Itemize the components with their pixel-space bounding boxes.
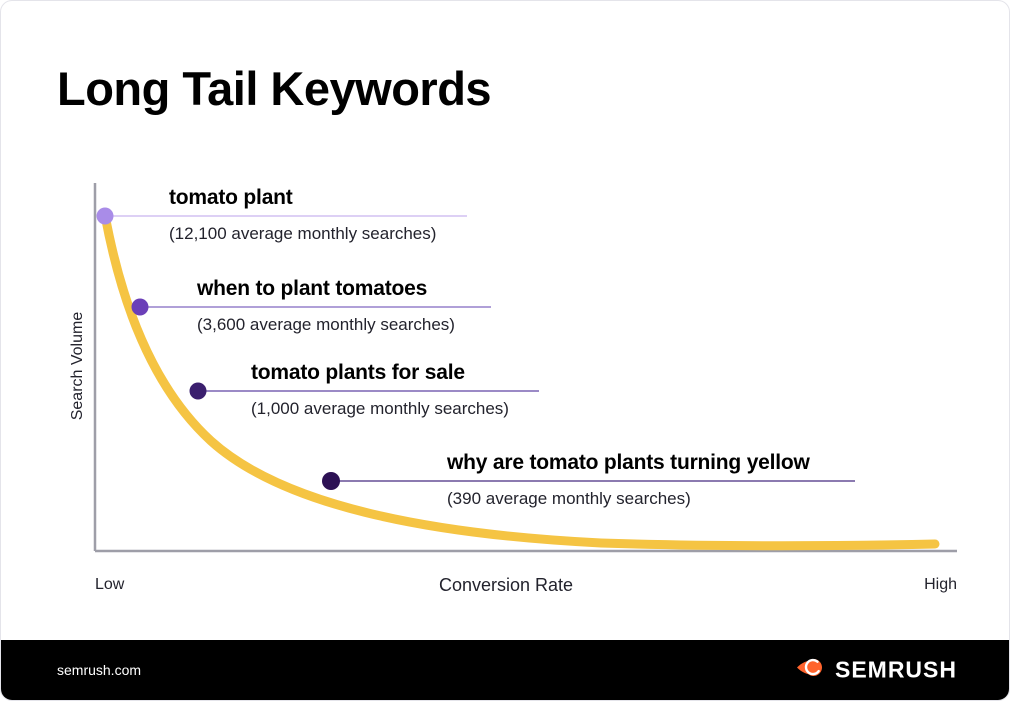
annotation-volume: (3,600 average monthly searches) [197, 315, 455, 335]
annotation-keyword: tomato plant [169, 186, 293, 210]
annotation-keyword: why are tomato plants turning yellow [447, 451, 810, 475]
chart-canvas [1, 1, 1010, 641]
footer-bar: semrush.com SEMRUSH [1, 640, 1010, 700]
semrush-wordmark: SEMRUSH [835, 657, 957, 684]
semrush-mark-icon [796, 655, 826, 686]
annotation-volume: (1,000 average monthly searches) [251, 399, 509, 419]
x-axis-label: Conversion Rate [1, 575, 1010, 596]
data-point-why-yellow[interactable] [322, 472, 340, 490]
annotation-keyword: tomato plants for sale [251, 361, 465, 385]
data-point-tomato-plants-for-sale[interactable] [190, 383, 207, 400]
annotation-volume: (390 average monthly searches) [447, 489, 691, 509]
x-axis-tick-low: Low [95, 576, 124, 594]
data-point-tomato-plant[interactable] [97, 208, 114, 225]
footer-site-url[interactable]: semrush.com [57, 662, 141, 678]
annotation-volume: (12,100 average monthly searches) [169, 224, 436, 244]
y-axis-label: Search Volume [69, 286, 87, 446]
data-point-when-to-plant-tomatoes[interactable] [132, 299, 149, 316]
infographic-card: Long Tail Keywords tomato plant (12,100 … [0, 0, 1010, 701]
semrush-logo: SEMRUSH [796, 655, 957, 686]
annotation-keyword: when to plant tomatoes [197, 277, 427, 301]
x-axis-tick-high: High [924, 576, 957, 594]
long-tail-keyword-chart: tomato plant (12,100 average monthly sea… [1, 1, 1010, 641]
